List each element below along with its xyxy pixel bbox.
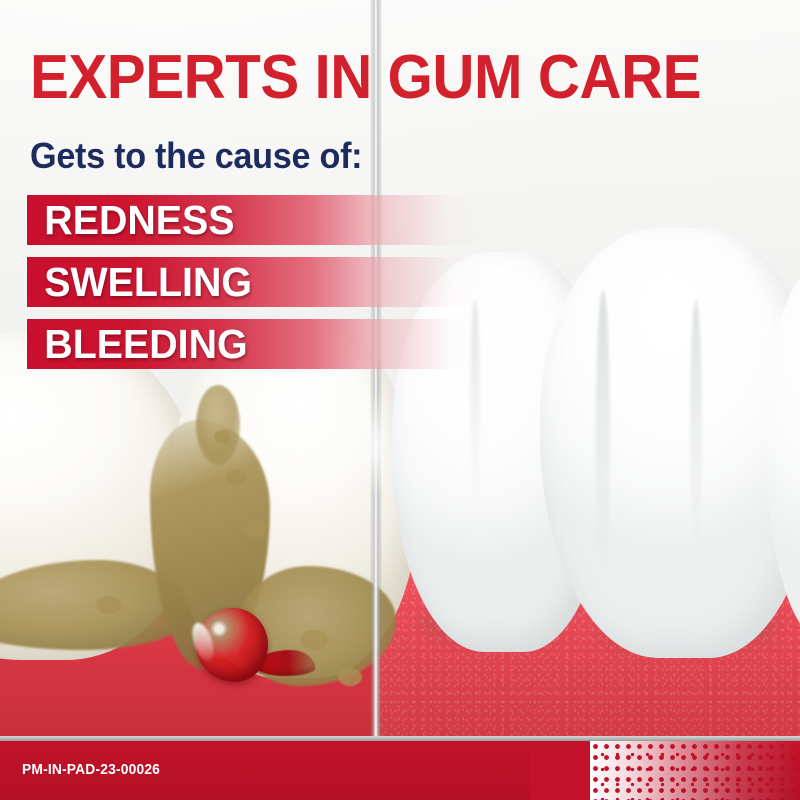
symptom-label: REDNESS [27,200,235,241]
symptom-label: BLEEDING [27,324,248,365]
symptom-list: REDNESS SWELLING BLEEDING [27,195,487,381]
subheading: Gets to the cause of: [30,136,362,176]
approval-code: PM-IN-PAD-23-00026 [22,761,160,778]
plaque-nodule [196,385,240,465]
symptom-banner-bleeding: BLEEDING [27,319,487,369]
plaque-speck [214,430,230,444]
plaque-speck [244,520,266,538]
footer-bar: PM-IN-PAD-23-00026 [0,741,800,800]
plaque-speck [96,596,122,614]
plaque-speck [226,470,246,486]
page-title: EXPERTS IN GUM CARE [30,48,726,108]
tooth-ridge-highlight [690,300,702,550]
tooth-ridge-highlight [596,290,610,570]
symptom-label: SWELLING [27,262,252,303]
tooth-healthy-center [540,228,800,658]
footer-halftone-pattern [590,741,800,800]
gum-care-advertisement: EXPERTS IN GUM CARE Gets to the cause of… [0,0,800,800]
footer-dither-fade [530,741,590,800]
divider-glow-highlight [364,390,388,500]
symptom-banner-swelling: SWELLING [27,257,487,307]
plaque-speck [300,630,328,650]
symptom-banner-redness: REDNESS [27,195,487,245]
tooth-illustration-scene [0,0,800,800]
blood-droplet [196,608,268,682]
plaque-speck [338,668,362,686]
